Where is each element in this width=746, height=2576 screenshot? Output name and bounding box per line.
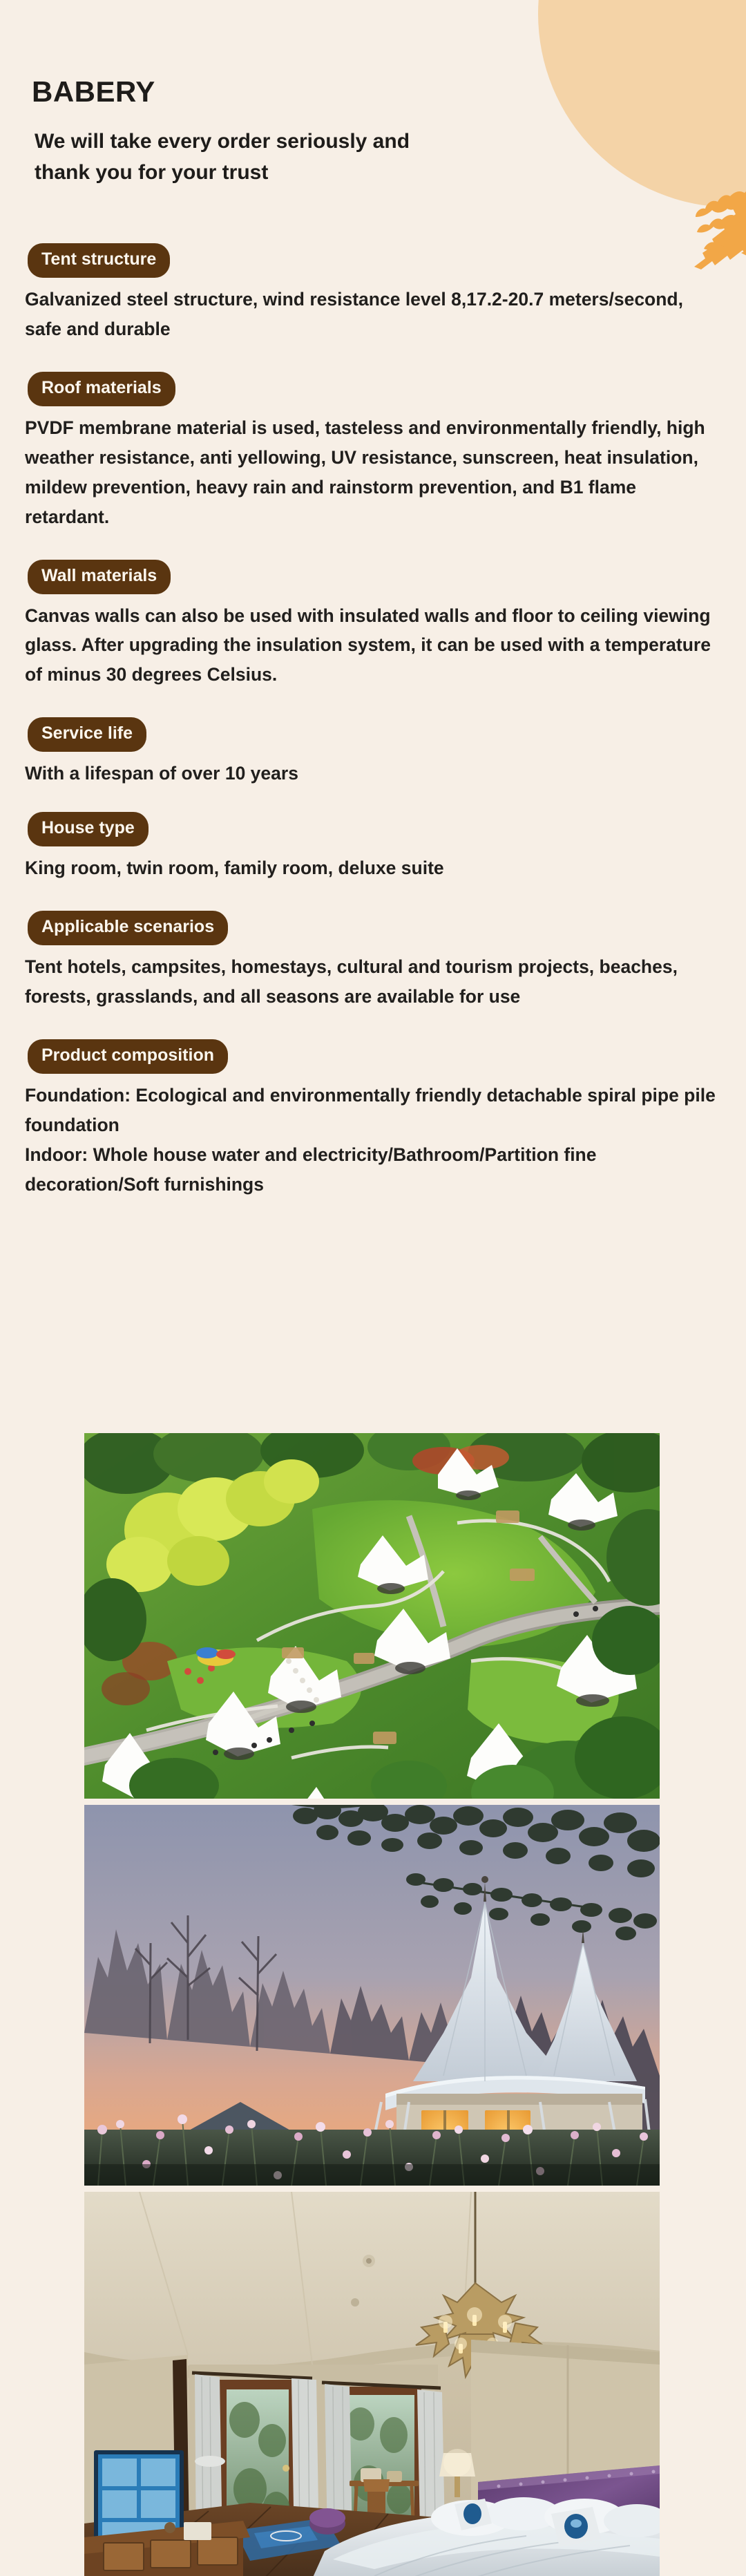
section-paragraph: Galvanized steel structure, wind resista… (25, 285, 723, 344)
section-body-service-life: With a lifespan of over 10 years (25, 759, 723, 788)
circle-decoration-icon (538, 0, 746, 207)
section-badge-service-life: Service life (28, 717, 146, 752)
section-spacer (0, 1012, 746, 1039)
tagline: We will take every order seriously and t… (35, 126, 518, 188)
section-spacer (0, 344, 746, 372)
section-body-tent-structure: Galvanized steel structure, wind resista… (25, 285, 723, 344)
section-body-house-type: King room, twin room, family room, delux… (25, 853, 723, 883)
section-paragraph: Canvas walls can also be used with insul… (25, 601, 723, 690)
section-paragraph: Tent hotels, campsites, homestays, cultu… (25, 952, 723, 1012)
section-body-product-composition: Foundation: Ecological and environmental… (25, 1081, 723, 1200)
twilight-tent-exterior-photo (84, 1805, 660, 2186)
tagline-line-2: thank you for your trust (35, 157, 518, 188)
aerial-tent-resort-photo (84, 1433, 660, 1799)
section-badge-product-composition: Product composition (28, 1039, 228, 1074)
section-badge-wall-materials: Wall materials (28, 560, 171, 594)
section-spacer (0, 788, 746, 812)
section-badge-roof-materials: Roof materials (28, 372, 175, 406)
spec-section-service-life: Service life With a lifespan of over 10 … (0, 717, 746, 788)
section-badge-applicable-scenarios: Applicable scenarios (28, 911, 228, 945)
spec-section-product-composition: Product composition Foundation: Ecologic… (0, 1039, 746, 1200)
spec-section-applicable-scenarios: Applicable scenarios Tent hotels, campsi… (0, 911, 746, 1012)
photo-gallery (84, 1433, 660, 2576)
section-spacer (0, 690, 746, 717)
product-detail-page: BABERY We will take every order seriousl… (0, 0, 746, 2576)
section-badge-house-type: House type (28, 812, 149, 846)
section-body-applicable-scenarios: Tent hotels, campsites, homestays, cultu… (25, 952, 723, 1012)
section-paragraph: King room, twin room, family room, delux… (25, 853, 723, 883)
section-body-roof-materials: PVDF membrane material is used, tasteles… (25, 413, 723, 532)
spec-section-wall-materials: Wall materials Canvas walls can also be … (0, 560, 746, 690)
section-body-wall-materials: Canvas walls can also be used with insul… (25, 601, 723, 690)
spec-section-tent-structure: Tent structure Galvanized steel structur… (0, 243, 746, 344)
section-paragraph: With a lifespan of over 10 years (25, 759, 723, 788)
section-spacer (0, 883, 746, 911)
spec-section-house-type: House type King room, twin room, family … (0, 812, 746, 883)
section-paragraph: Indoor: Whole house water and electricit… (25, 1140, 723, 1200)
tagline-line-1: We will take every order seriously and (35, 126, 518, 157)
spec-section-list: Tent structure Galvanized steel structur… (0, 243, 746, 1200)
tent-interior-bedroom-photo (84, 2192, 660, 2576)
section-paragraph: Foundation: Ecological and environmental… (25, 1081, 723, 1140)
spec-section-roof-materials: Roof materials PVDF membrane material is… (0, 372, 746, 532)
brand-title: BABERY (32, 77, 155, 106)
section-badge-tent-structure: Tent structure (28, 243, 170, 278)
section-spacer (0, 532, 746, 560)
section-paragraph: PVDF membrane material is used, tasteles… (25, 413, 723, 532)
